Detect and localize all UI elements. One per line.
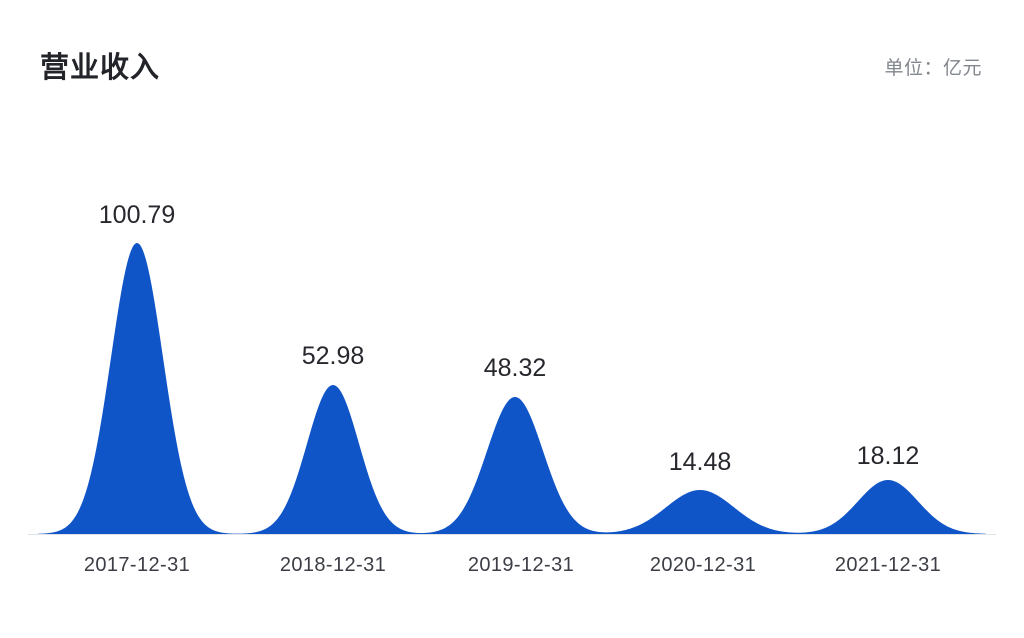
axis-baseline xyxy=(28,534,996,535)
revenue-chart-card: 营业收入 单位：亿元 100.7952.9848.3214.4818.12 20… xyxy=(0,0,1024,638)
chart-plot-area xyxy=(0,0,1024,638)
revenue-area-series xyxy=(0,0,1024,638)
revenue-curve-fill xyxy=(38,243,986,534)
